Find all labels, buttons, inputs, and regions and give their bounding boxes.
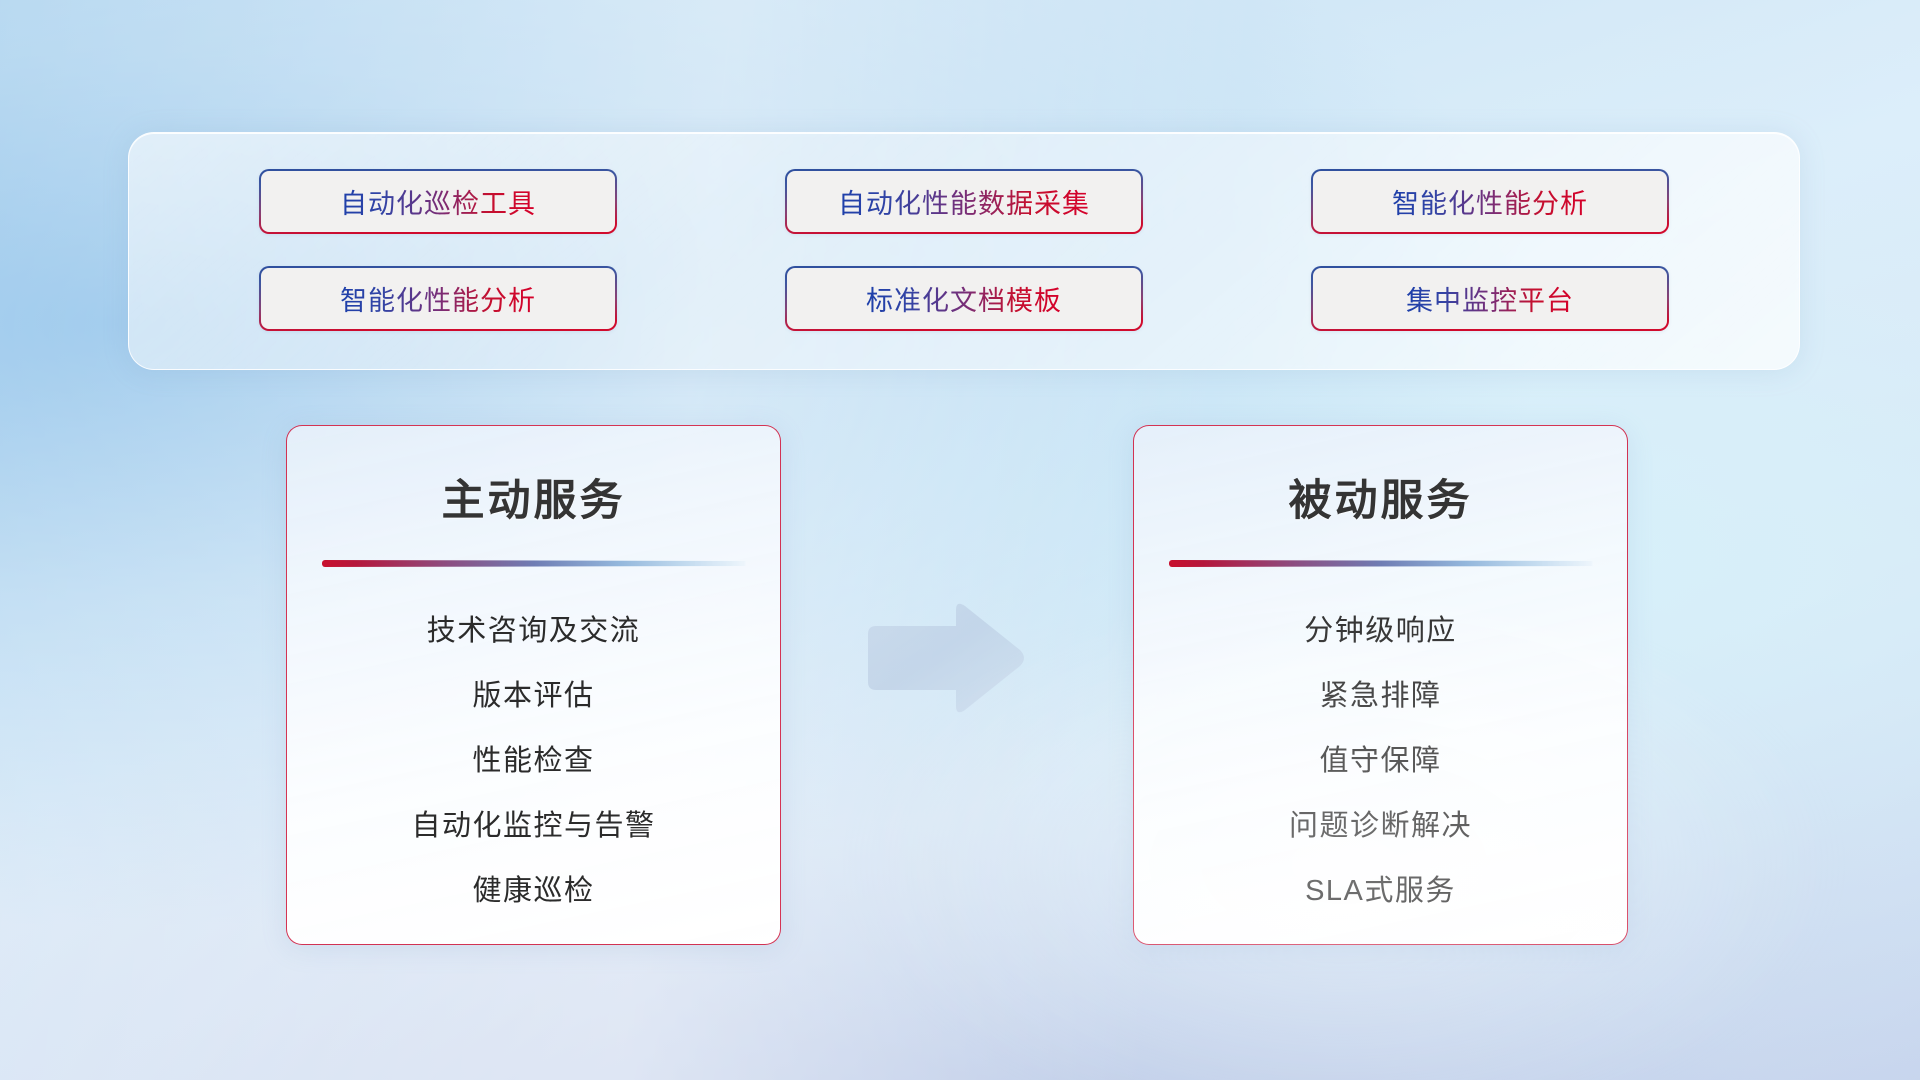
service-card-proactive-list: 技术咨询及交流 版本评估 性能检查 自动化监控与告警 健康巡检 (287, 607, 780, 909)
capability-pill-6-label: 集中监控平台 (1406, 279, 1574, 318)
capability-pill-1-inner: 自动化巡检工具 (261, 171, 615, 232)
service-card-proactive-title: 主动服务 (287, 466, 780, 528)
capability-pill-3-inner: 智能化性能分析 (1313, 171, 1667, 232)
list-item: 值守保障 (1319, 737, 1441, 779)
arrow-right-icon (862, 598, 1028, 718)
capability-pill-5-inner: 标准化文档模板 (787, 268, 1141, 329)
list-item: 性能检查 (472, 737, 594, 779)
capability-pill-3[interactable]: 智能化性能分析 (1311, 169, 1669, 234)
list-item: 技术咨询及交流 (427, 607, 641, 649)
capability-pill-3-label: 智能化性能分析 (1392, 182, 1588, 221)
service-card-reactive-title: 被动服务 (1134, 466, 1627, 528)
capability-pill-5[interactable]: 标准化文档模板 (785, 266, 1143, 331)
card-divider-icon (1169, 560, 1593, 567)
capability-pill-5-label: 标准化文档模板 (866, 279, 1062, 318)
capability-pill-1-label: 自动化巡检工具 (340, 182, 536, 221)
capability-pill-4[interactable]: 智能化性能分析 (259, 266, 617, 331)
slide-canvas: 自动化巡检工具 自动化性能数据采集 智能化性能分析 智能化性能分析 (0, 0, 1920, 1080)
capability-pill-2[interactable]: 自动化性能数据采集 (785, 169, 1143, 234)
card-divider-icon (322, 560, 746, 567)
service-card-reactive[interactable]: 被动服务 分钟级响应 紧急排障 值守保障 问题诊断解决 SLA式服务 (1133, 425, 1628, 945)
capability-pill-2-label: 自动化性能数据采集 (838, 182, 1090, 221)
capability-pill-6-inner: 集中监控平台 (1313, 268, 1667, 329)
capability-pill-4-label: 智能化性能分析 (340, 279, 536, 318)
service-card-proactive[interactable]: 主动服务 技术咨询及交流 版本评估 性能检查 自动化监控与告警 健康巡检 (286, 425, 781, 945)
list-item: SLA式服务 (1305, 867, 1456, 909)
capability-pill-1[interactable]: 自动化巡检工具 (259, 169, 617, 234)
capability-pill-4-inner: 智能化性能分析 (261, 268, 615, 329)
list-item: 紧急排障 (1319, 672, 1441, 714)
service-card-reactive-list: 分钟级响应 紧急排障 值守保障 问题诊断解决 SLA式服务 (1134, 607, 1627, 909)
capabilities-grid: 自动化巡检工具 自动化性能数据采集 智能化性能分析 智能化性能分析 (129, 133, 1799, 369)
capabilities-panel: 自动化巡检工具 自动化性能数据采集 智能化性能分析 智能化性能分析 (128, 132, 1800, 370)
capability-pill-2-inner: 自动化性能数据采集 (787, 171, 1141, 232)
list-item: 分钟级响应 (1304, 607, 1457, 649)
capability-pill-6[interactable]: 集中监控平台 (1311, 266, 1669, 331)
list-item: 版本评估 (472, 672, 594, 714)
list-item: 自动化监控与告警 (411, 802, 655, 844)
list-item: 健康巡检 (472, 867, 594, 909)
list-item: 问题诊断解决 (1289, 802, 1472, 844)
